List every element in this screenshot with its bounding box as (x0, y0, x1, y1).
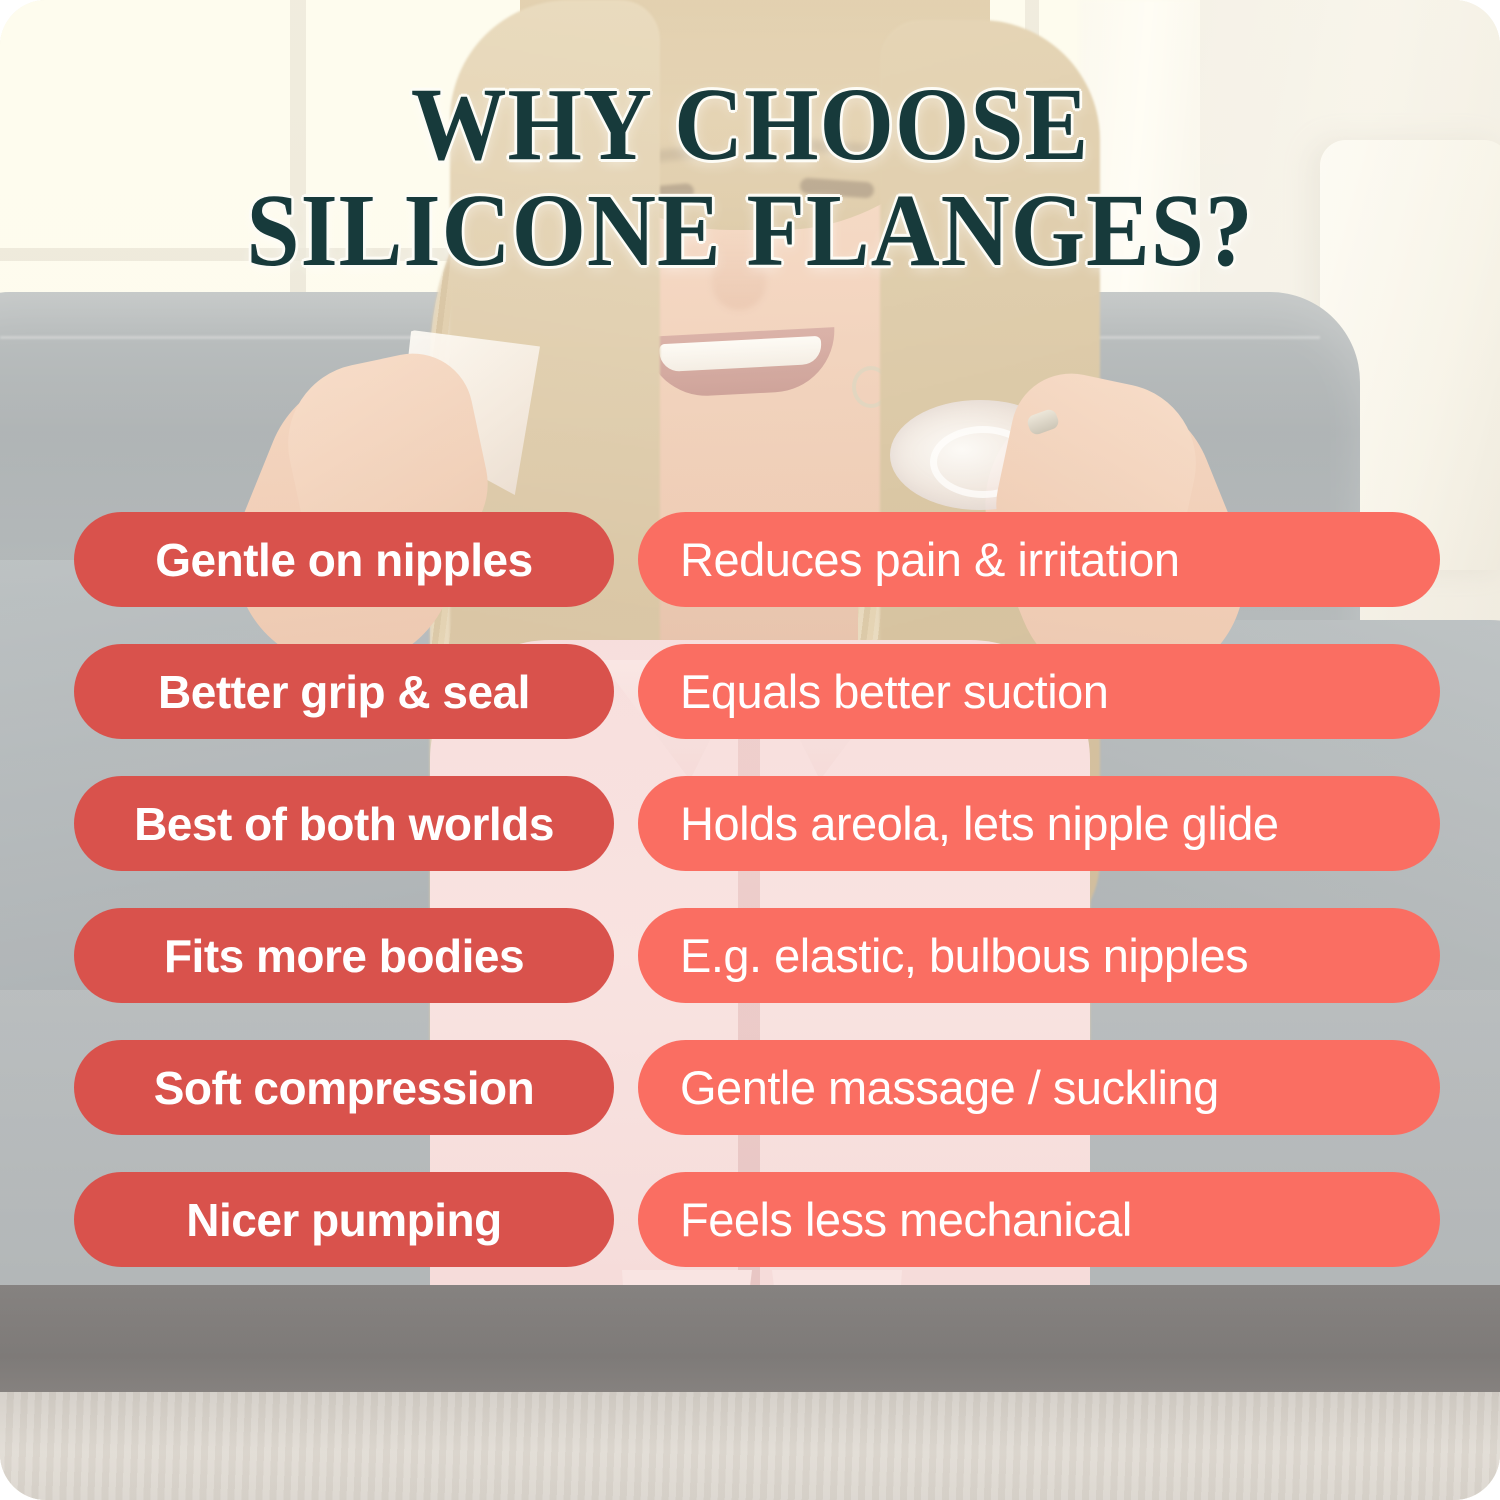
benefit-list: Gentle on nipples Reduces pain & irritat… (0, 512, 1500, 1304)
infographic-poster: WHY CHOOSE SILICONE FLANGES? Gentle on n… (0, 0, 1500, 1500)
benefit-label-pill: Nicer pumping (74, 1172, 614, 1267)
benefit-label-pill: Gentle on nipples (74, 512, 614, 607)
benefit-detail: Equals better suction (680, 664, 1108, 719)
benefit-detail: Holds areola, lets nipple glide (680, 796, 1278, 851)
nose (712, 230, 766, 310)
benefit-detail: Feels less mechanical (680, 1192, 1132, 1247)
benefit-detail-pill: Gentle massage / suckling (638, 1040, 1440, 1135)
benefit-label: Gentle on nipples (155, 533, 532, 587)
benefit-row: Nicer pumping Feels less mechanical (0, 1172, 1500, 1267)
teeth (659, 336, 822, 372)
benefit-row: Best of both worlds Holds areola, lets n… (0, 776, 1500, 871)
benefit-detail: Gentle massage / suckling (680, 1060, 1219, 1115)
benefit-row: Better grip & seal Equals better suction (0, 644, 1500, 739)
benefit-label: Better grip & seal (158, 665, 530, 719)
benefit-detail-pill: Reduces pain & irritation (638, 512, 1440, 607)
benefit-row: Gentle on nipples Reduces pain & irritat… (0, 512, 1500, 607)
benefit-detail-pill: Equals better suction (638, 644, 1440, 739)
benefit-label-pill: Better grip & seal (74, 644, 614, 739)
benefit-row: Fits more bodies E.g. elastic, bulbous n… (0, 908, 1500, 1003)
benefit-detail: E.g. elastic, bulbous nipples (680, 928, 1248, 983)
benefit-label-pill: Best of both worlds (74, 776, 614, 871)
benefit-label: Fits more bodies (164, 929, 524, 983)
benefit-label: Nicer pumping (186, 1193, 502, 1247)
benefit-detail-pill: Holds areola, lets nipple glide (638, 776, 1440, 871)
benefit-label-pill: Fits more bodies (74, 908, 614, 1003)
benefit-detail-pill: Feels less mechanical (638, 1172, 1440, 1267)
area-rug-texture (0, 1392, 1500, 1500)
benefit-detail-pill: E.g. elastic, bulbous nipples (638, 908, 1440, 1003)
benefit-detail: Reduces pain & irritation (680, 532, 1180, 587)
benefit-label: Best of both worlds (134, 797, 554, 851)
benefit-label-pill: Soft compression (74, 1040, 614, 1135)
benefit-label: Soft compression (154, 1061, 535, 1115)
benefit-row: Soft compression Gentle massage / suckli… (0, 1040, 1500, 1135)
